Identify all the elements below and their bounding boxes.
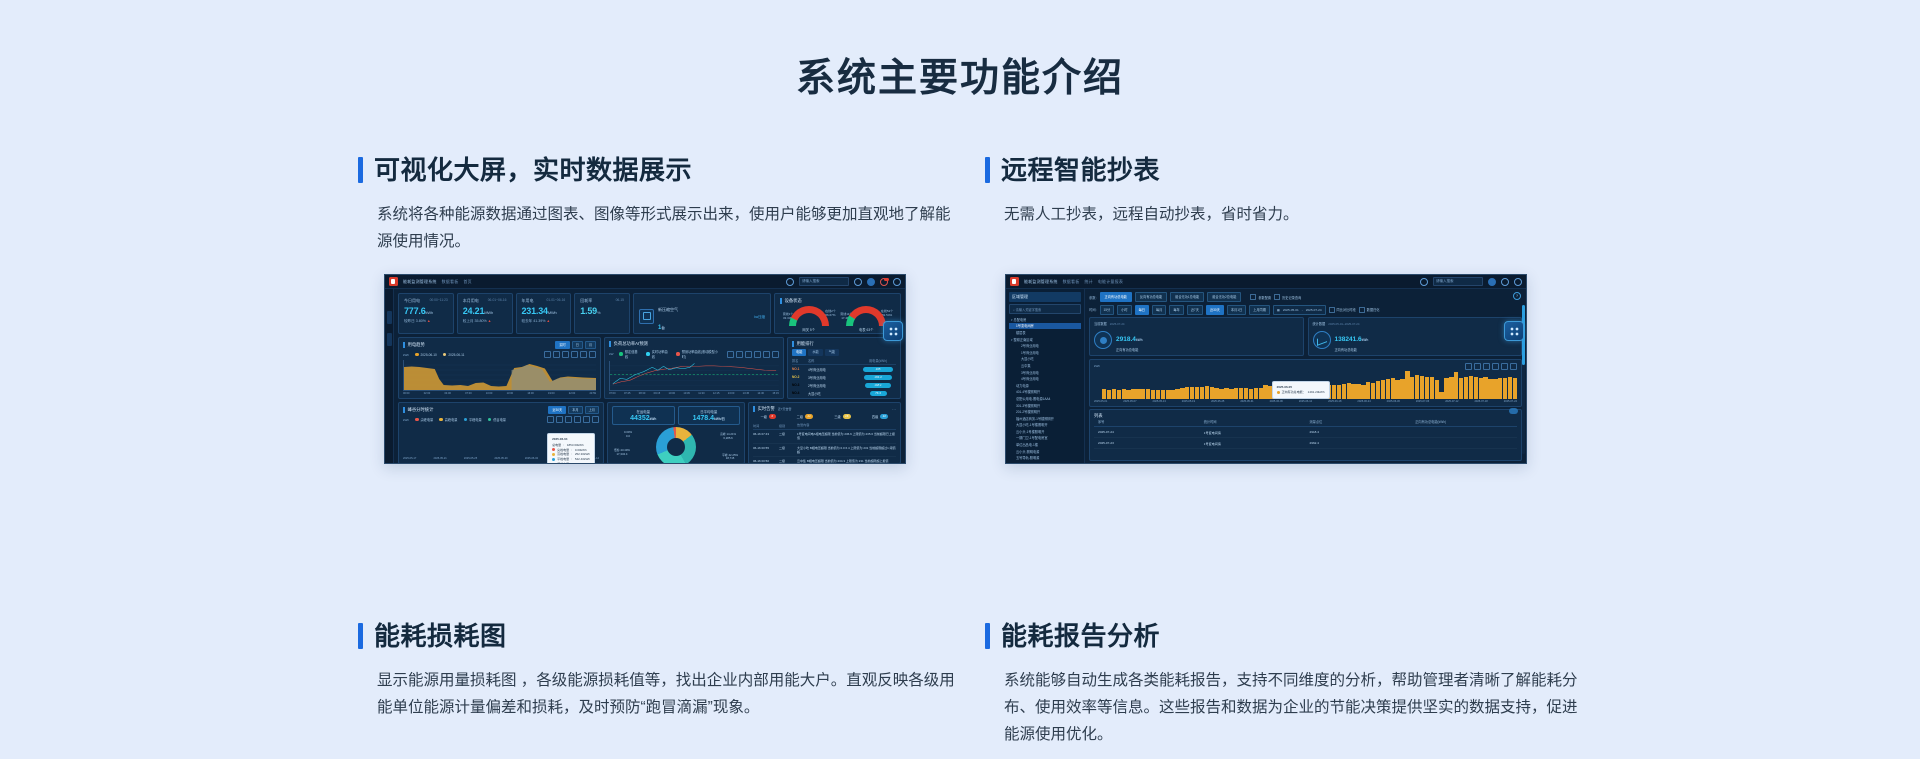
bar[interactable] [1376,381,1380,398]
bar[interactable] [1190,387,1194,398]
more-icon[interactable] [592,416,599,423]
tree-node[interactable]: 福州酒店商务-1号楼照明开 [1009,415,1081,422]
tree-node[interactable]: 云小头-照明电源 [1009,448,1081,455]
kpi-value: 231.34 [522,306,548,316]
cell-content: 大显小吃 B相电压超限 当前值为 0.0 6.4 上限值为 231 当前超限超过… [797,446,896,455]
tab-count: 16 [843,414,851,419]
tab-day[interactable]: 日 [572,341,583,349]
bar[interactable] [1175,389,1179,399]
energy-bar-chart: kWh 2025-06-05 正向有功总电 [1089,359,1522,407]
cell-time: 06-16 00:55 [753,446,779,455]
bar[interactable] [1122,389,1126,398]
nav-item-2[interactable]: 电能计量报表 [1098,279,1123,285]
checkbox-normalize[interactable]: 数据归化 [1359,307,1380,313]
bar[interactable] [1131,389,1135,398]
x-tick: 13:00 [728,392,735,395]
cell-rank: NO.2 [792,375,808,379]
bar[interactable] [1259,388,1263,399]
param-chip-reverse-active[interactable]: 反向有功总电能 [1135,292,1167,302]
nav-item-1[interactable]: 首页 [463,279,471,285]
tree-node[interactable]: 云小头-1号楼照明开 [1009,428,1081,435]
table-row[interactable]: 06-16 07:43 二级 1号变电间电A相电压超限 当前值为 236.6 上… [753,430,896,444]
history-query-button[interactable]: 历史记录查询 [1274,294,1301,300]
bar[interactable] [1263,385,1267,399]
bar[interactable] [1454,372,1458,399]
bar[interactable] [1136,389,1140,399]
bar[interactable] [1361,385,1365,399]
cell-extra [1411,441,1517,446]
bar[interactable] [1161,390,1165,398]
tree-node[interactable]: ▾总配电房 [1009,316,1081,323]
fullscreen-icon[interactable] [1488,278,1496,286]
grid-icon [889,327,898,336]
refresh-icon[interactable] [565,416,572,423]
download-icon[interactable] [727,351,734,358]
tree-node[interactable]: ▾整幢正南区域 [1009,336,1081,343]
app-logo-icon [1010,277,1019,286]
expand-icon[interactable] [1501,363,1508,370]
param-filter-row: 参数: 正向有功总电能 反向有功总电能 组合无功1总电能 组合无功2总电能 参数… [1089,292,1522,302]
chart-tooltip: 2025-06-04 总电量: 1853.60kWh 尖峰电量: 0.00kWh… [547,433,595,464]
tab-realtime[interactable]: 实时 [555,341,569,349]
tree-node[interactable]: 动力电源 [1009,382,1081,389]
bar[interactable] [1444,378,1448,399]
search-input[interactable]: 请输入搜索 [1433,277,1483,286]
chevron-down-icon[interactable]: ▾ [1011,318,1013,322]
more-icon[interactable] [589,351,596,358]
rank-tab-water[interactable]: 水能 [808,349,822,356]
rail-item-0[interactable] [387,311,392,324]
daily-average-card: 日平均电量 1478.4kWh/日 [678,406,741,425]
table-row[interactable]: 2025-07-23 1号变电间房 2962.4 [1094,438,1517,449]
bar[interactable] [1170,390,1174,399]
accent-bar-icon [985,157,990,183]
tab-month[interactable]: 月 [585,341,596,349]
download-icon[interactable] [547,416,554,423]
statistics-data-card: 统计数据2025-05-01~2025-07-24 138241.6kWh 正向… [1308,317,1523,356]
feature-heading: 远程智能抄表 [985,157,1299,183]
bar[interactable] [1126,390,1130,399]
expand-icon[interactable] [763,351,770,358]
bar[interactable] [1410,377,1414,399]
bar[interactable] [1488,379,1492,398]
save-icon[interactable] [574,416,581,423]
tree-node[interactable]: 单位出品电-1楼 [1009,441,1081,448]
stacked-bars: 2025-06-04 总电量: 1853.60kWh 尖峰电量: 0.00kWh… [403,423,599,456]
tree-node[interactable]: 大显小吃-1号楼照明开 [1009,422,1081,429]
feature-energy-report-analysis: 能耗报告分析 系统能够自动生成各类能耗报告，支持不同维度的分析，帮助管理者清晰了… [985,623,1584,748]
accent-bar-icon [985,623,990,649]
bar[interactable] [1356,384,1360,399]
param-config-button[interactable]: 参数配置 [1250,294,1271,300]
tree-node-label: 1号变电间房 [1016,324,1034,328]
checkbox-compare-period[interactable]: 同比对比时段 [1329,307,1356,313]
bar[interactable] [1420,376,1424,399]
bar[interactable] [1503,378,1507,399]
tree-node[interactable]: 五号导轨-照明源 [1009,454,1081,461]
bar[interactable] [1430,377,1434,399]
dashboard-canvas: 今日用电00:00~11:23 777.6kWh 较昨日 3.80% ▲ 本月用… [394,289,905,464]
device-link[interactable]: kw压缩 [754,314,765,319]
bar[interactable] [1210,387,1214,399]
x-tick: 2025-06-30 [1387,400,1400,403]
kpi-card-loss-rate: 回耗率06-15 1.59% [574,293,630,334]
feature-title: 可视化大屏，实时数据展示 [374,157,692,183]
tree-node-label: 楼层表 [1016,331,1026,335]
kpi-compare: 较昨日 3.80% [404,319,426,323]
period-chip-30days[interactable]: 近30天 [1206,305,1224,315]
bar-toggle-icon[interactable] [553,351,560,358]
feature-description: 系统将各种能源数据通过图表、图像等形式展示出来，使用户能够更加直观地了解能源使用… [377,201,957,255]
search-input[interactable]: 请输入搜索 [799,277,849,286]
bar[interactable] [1493,379,1497,399]
help-icon[interactable] [854,278,862,286]
bar[interactable] [1464,377,1468,399]
bar[interactable] [1229,389,1233,399]
x-tick: 23:59 [589,392,596,395]
nav-item-0[interactable]: 数据看板 [1063,279,1080,285]
table-row[interactable]: NO.5 云中集 9 [792,397,896,399]
feature-description: 系统能够自动生成各类能耗报告，支持不同维度的分析，帮助管理者清晰了解能耗分布、使… [1004,667,1584,748]
download-cloud-icon[interactable] [1509,408,1518,414]
device-icon [639,309,654,324]
tree-node[interactable]: 楼层表 [1009,329,1081,336]
col-time: 统计时间 [1200,419,1306,424]
bar[interactable] [1342,384,1346,398]
period-chip-month-first[interactable]: 本月1日 [1227,305,1246,315]
table-row[interactable]: 2025-07-24 1号变电间房 2918.4 [1094,427,1517,438]
cell-value-bar: 195 [863,367,893,372]
tree-node[interactable]: 2号商业用电 [1009,342,1081,349]
panel-subtitle: 近7天告警 [778,407,792,411]
bar[interactable] [1166,390,1170,398]
tree-node-label: 大显小吃 [1021,357,1034,361]
kpi-value: 24.21 [463,306,485,316]
slice-value: 17,334.4 [617,452,628,456]
x-tick: 19:00 [548,392,555,395]
bar[interactable] [1435,380,1439,398]
bar[interactable] [1459,378,1463,399]
bar-toggle-icon[interactable] [556,416,563,423]
grid-apps-button[interactable] [883,321,903,341]
bar[interactable] [1219,389,1223,399]
bar[interactable] [1347,383,1351,399]
slice-value: 0.0 [626,434,630,438]
bar[interactable] [1151,390,1155,399]
bar[interactable] [1112,389,1116,398]
more-icon[interactable] [1510,363,1517,370]
total-energy-card: 在运电量 44352kWh [612,406,675,425]
bar[interactable] [1185,387,1189,399]
bar[interactable] [1244,388,1248,398]
bar[interactable] [1479,378,1483,398]
donut-ring-icon [656,427,696,464]
param-chip-reactive-1[interactable]: 组合无功1总电能 [1170,292,1204,302]
help-icon[interactable]: ? [1513,292,1521,300]
table-row[interactable]: 06-16 00:55 二级 大显小吃 B相电压超限 当前值为 0.0 6.4 … [753,444,896,458]
bar[interactable] [1141,389,1145,399]
x-tick: 15:15 [772,392,779,395]
period-chip-year[interactable]: 每年 [1169,305,1183,315]
cell-time: 06-16 00:50 [753,459,779,463]
tree-node[interactable]: 401-4号楼照明开 [1009,389,1081,396]
bar[interactable] [1214,388,1218,398]
more-icon[interactable]: ··· [892,407,896,412]
bar[interactable] [1239,388,1243,398]
bar[interactable] [1146,389,1150,398]
bar[interactable] [1400,379,1404,399]
expand-icon[interactable] [580,351,587,358]
download-icon[interactable] [544,351,551,358]
bar[interactable] [1513,378,1517,399]
avatar[interactable] [1514,278,1522,286]
x-tick: 07:00 [465,392,472,395]
tree-node[interactable]: 1号商业用电 [1009,349,1081,356]
fullscreen-icon[interactable] [867,278,875,286]
bar[interactable] [1205,386,1209,398]
tooltip-label: 低谷电量 [557,462,569,464]
tree-node-label: 福州酒店商务-1号楼照明开 [1016,417,1054,421]
refresh-icon[interactable] [745,351,752,358]
tree-node[interactable]: 总配公用电-照电源1AA4 [1009,395,1081,402]
legend-label-3: 低谷电量 [493,417,506,422]
slice-value: 6,285.6 [723,436,732,440]
refresh-icon[interactable] [1483,363,1490,370]
cell-value: 2962.4 [1306,441,1412,446]
filter-icon [1274,294,1280,300]
expand-icon[interactable] [583,416,590,423]
chart-title: 负荷总功率AI预测 [614,341,648,347]
alarm-tab-level1[interactable]: 一级0 [761,414,776,419]
notification-bell-icon[interactable] [880,278,888,286]
bar[interactable] [1195,387,1199,398]
notification-bell-icon[interactable] [1501,278,1509,286]
bar[interactable] [1415,375,1419,398]
alarm-tab-level4[interactable]: 四级42 [872,414,889,419]
cell-time: 2025-07-24 [1094,430,1200,435]
param-chip-reactive-2[interactable]: 组合无功2总电能 [1207,292,1241,302]
bar[interactable] [1469,376,1473,398]
param-chip-forward-active[interactable]: 正向有功总电能 [1100,292,1132,302]
legend-swatch [676,352,679,356]
bar[interactable] [1483,377,1487,398]
tree-node[interactable]: 1号变电间房 [1009,323,1081,330]
trend-icon [1313,331,1331,349]
panel-accent-icon [780,298,782,304]
kpi-range: 01-01~06-16 [546,298,565,304]
chart-bars: 2025-06-05 正向有功总电能：1491.20kWh [1094,370,1517,399]
tooltip-date: 2025-06-04 [552,437,590,442]
ai-forecast-chart: 负荷总功率AI预测 kW 额定值基线 实时功率曲线 预测功率曲线(滚动模型小时) [604,337,784,399]
report-icon[interactable] [1420,278,1428,286]
bar[interactable] [1449,377,1453,398]
tree-node[interactable]: 一期门卫-1号配电房室 [1009,435,1081,442]
card-label: 日平均电量 [679,409,740,414]
bar[interactable] [1405,371,1409,398]
bar[interactable] [1498,378,1502,399]
tree-node-label: 云中集 [1021,364,1031,368]
period-label: 时间: [1089,307,1097,312]
table-row[interactable]: NO.1 4号商业用电 195 [792,365,896,373]
date-separator: - [1302,306,1303,314]
refresh-icon[interactable] [562,351,569,358]
current-data-card: 当前数据2025-07-24 2918.4kWh 正向有功总电能 [1089,317,1304,356]
period-chip-hour[interactable]: 小时 [1117,305,1131,315]
bar[interactable] [1117,390,1121,399]
chart-tooltip: 2025-06-05 正向有功总电能：1491.20kWh [1272,381,1330,400]
alarm-panel: 实时告警 近7天告警 ··· 一级0 二级21 三级16 四级42 时间 [748,402,901,464]
dashboard-topbar: 能耗监测管理系统 数据看板 首页 请输入搜索 [385,275,905,289]
query-screenshot: 能耗监测管理系统 数据看板 统计 电能计量报表 请输入搜索 区域管理 ⌕ 请输入… [1005,274,1527,464]
period-filter-row: 时间: 15分 小时 每日 每月 每年 近7天 近30天 本月1日 上月同期 ▦… [1089,305,1522,315]
kpi-label: 回耗率 [580,298,592,304]
gas-device-card: 新压缩空气 1台 kw压缩 额定流量 250cm 额定功率 [633,293,771,334]
tree-node[interactable]: 301-3号楼照明开 [1009,402,1081,409]
kpi-value: 777.6 [404,306,426,316]
feature-visual-dashboard: 可视化大屏，实时数据展示 系统将各种能源数据通过图表、图像等形式展示出来，使用户… [358,157,957,255]
rail-item-1[interactable] [387,333,392,346]
x-tick: 10:00 [486,392,493,395]
stat-sub: 正向有功总电能 [1335,347,1369,352]
tree-node-label: 整幢正南区域 [1014,338,1033,342]
save-icon[interactable] [754,351,761,358]
bar[interactable] [1425,377,1429,399]
bar[interactable] [1371,383,1375,399]
save-icon[interactable] [1492,363,1499,370]
bar[interactable] [1249,389,1253,399]
bar[interactable] [1102,389,1106,398]
tab-30days[interactable]: 近30天 [548,406,566,414]
bar[interactable] [1332,385,1336,398]
avatar[interactable] [893,278,901,286]
gauge-caption: 网关 5个 [786,327,832,332]
report-icon[interactable] [786,278,794,286]
table-row[interactable]: 06-16 00:50 二级 云中集 B相电压超限 当前值为 234.3 上限值… [753,457,896,464]
tree-node-label: 云小头-照明电源 [1016,450,1039,454]
bar[interactable] [1337,385,1341,398]
nav-item-0[interactable]: 数据看板 [442,279,459,285]
download-icon[interactable] [1465,363,1472,370]
table-row[interactable]: NO.3 2号商业用电 168.1 [792,381,896,389]
panel-title: 实时告警 [758,406,775,412]
period-chip-month[interactable]: 每月 [1152,305,1166,315]
bar[interactable] [1395,380,1399,398]
bar[interactable] [1234,388,1238,398]
tree-node[interactable]: 201-2号楼照明开 [1009,408,1081,415]
bar[interactable] [1386,379,1390,398]
bar[interactable] [1156,390,1160,399]
x-tick: 2025-07-24 [1504,400,1517,403]
tree-node[interactable]: 4号商业用电 [1009,375,1081,382]
stat-unit: kWh [1362,338,1369,342]
y-axis-unit: kW [609,352,613,356]
rank-tab-electric[interactable]: 电能 [792,349,806,356]
gauge-gateway: 离线1个33.33% 在线2个66.67% 网关 5个 [786,306,832,332]
bar[interactable] [1351,384,1355,399]
table-row[interactable]: NO.4 大显小吃 76.3 [792,389,896,397]
bar[interactable] [1224,388,1228,398]
panel-accent-icon [403,407,405,413]
period-chip-15min[interactable]: 15分 [1100,305,1115,315]
col-level: 级别 [779,423,797,428]
save-icon[interactable] [571,351,578,358]
bar[interactable] [1439,392,1443,399]
period-chip-last-month[interactable]: 上月同期 [1249,305,1270,315]
bar[interactable] [1107,390,1111,399]
app-logo-icon [389,277,398,286]
tab-label: 一级 [761,414,767,419]
stat-unit: kWh [1136,338,1143,342]
bar[interactable] [1391,378,1395,399]
bar[interactable] [1508,377,1512,398]
bar[interactable] [1254,388,1258,398]
nav-item-1[interactable]: 统计 [1084,279,1092,285]
tab-last-month[interactable]: 上月 [585,406,599,414]
tooltip-swatch [552,453,555,456]
period-chip-7days[interactable]: 近7天 [1187,305,1203,315]
legend-label-2: 预测功率曲线(滚动模型小时) [682,349,721,359]
tab-label: 二级 [797,414,803,419]
tree-search-placeholder: 请输入关键字搜索 [1016,308,1042,312]
alarm-tab-level3[interactable]: 三级16 [834,414,851,419]
col-index: 序号 [1094,419,1200,424]
rank-tab-gas[interactable]: 气能 [825,349,839,356]
alarm-table-header: 时间 级别 告警内容 [753,421,896,430]
bar[interactable] [1180,388,1184,399]
date-range-picker[interactable]: ▦ 2025-05-01 - 2025-07-24 [1273,305,1326,315]
stat-caption-sub: 2025-07-24 [1110,322,1125,326]
chevron-down-icon[interactable]: ▾ [1011,338,1013,342]
tree-node[interactable]: 3号商业用电 [1009,369,1081,376]
legend-label-1: 高峰电量 [445,417,458,422]
x-tick: 07:45 [624,392,631,395]
cell-level: 二级 [779,459,797,463]
left-rail [385,289,394,464]
kpi-label: 今日用电 [404,298,420,304]
x-tick: 04:00 [444,392,451,395]
tree-node[interactable]: 大显小吃 [1009,356,1081,363]
legend-label-0: 额定值基线 [625,349,640,359]
cell-name: 大显小吃 [808,391,860,396]
grid-apps-button[interactable] [1504,321,1524,341]
calendar-icon: ▦ [1277,306,1280,314]
more-icon[interactable] [772,351,779,358]
tree-node[interactable]: 云中集 [1009,362,1081,369]
bottom-row: 峰谷分时统计 近30天 本月 上月 kWh 尖峰电量 高峰电量 平峰电量 [398,402,901,464]
bar-toggle-icon[interactable] [1474,363,1481,370]
tree-node-label: 总配公用电-照电源1AA4 [1016,397,1050,401]
bar[interactable] [1474,377,1478,398]
cell-value-bar: 76.3 [870,391,887,396]
period-chip-day[interactable]: 每日 [1135,305,1149,315]
tree-search-input[interactable]: ⌕ 请输入关键字搜索 [1009,304,1081,314]
mid-row: 用电趋势 实时 日 月 kWh 2025-06-10 2025-06-11 [398,337,901,399]
alarm-tab-level2[interactable]: 二级21 [797,414,814,419]
bar[interactable] [1381,380,1385,398]
tree-node-label: 3号商业用电 [1021,371,1039,375]
chart-title: 峰谷分时统计 [408,407,434,413]
tab-this-month[interactable]: 本月 [568,406,582,414]
device-count-unit: 台 [661,326,665,330]
table-row[interactable]: NO.2 3号商业用电 184.4 [792,373,896,381]
cell-name: 3号商业用电 [808,375,860,380]
bar[interactable] [1366,382,1370,399]
kpi-compare: 较上月 35.80% [463,319,487,323]
bar-toggle-icon[interactable] [736,351,743,358]
tooltip-value: 550.40kWh [575,462,590,464]
tree-node-label: 301-3号楼照明开 [1016,404,1040,408]
bar[interactable] [1200,387,1204,399]
